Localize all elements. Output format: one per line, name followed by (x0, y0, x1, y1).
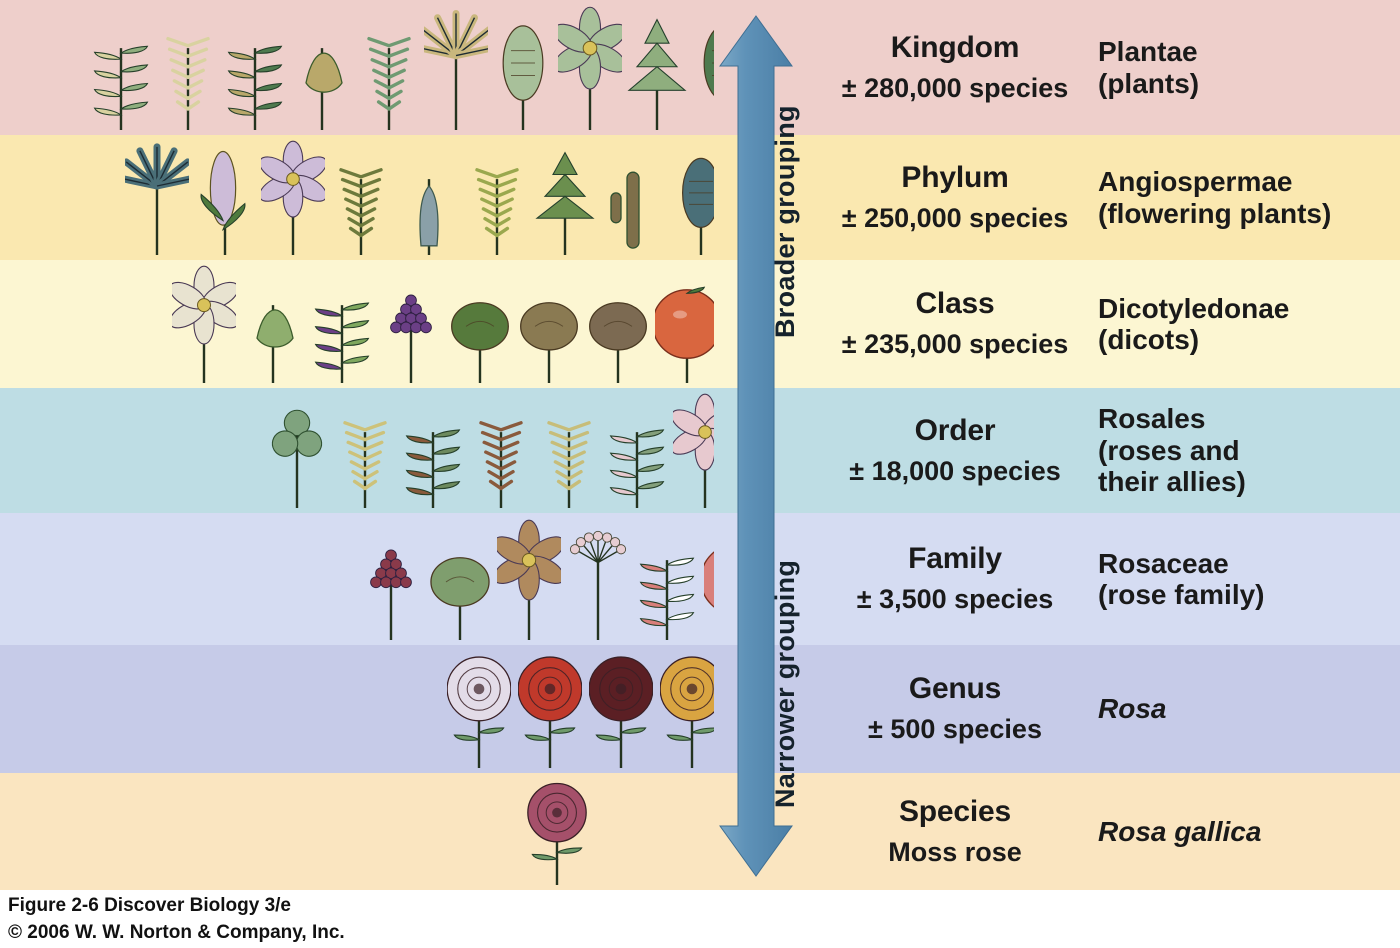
plant-illustration-umbel (566, 519, 630, 645)
taxon-common-name: their allies) (1098, 466, 1398, 497)
plant-illustration-leafy (310, 265, 374, 388)
taxonomy-figure: Kingdom ± 280,000 speciesPlantae(plants)… (0, 0, 1400, 890)
plant-illustration-blossom (497, 519, 561, 645)
rank-column-species: Species Moss rose (830, 773, 1080, 890)
rank-name: Class (915, 287, 994, 320)
plant-illustration-pitcher (397, 140, 461, 260)
rank-name: Family (908, 542, 1002, 575)
rank-name: Phylum (901, 161, 1008, 194)
rank-column-kingdom: Kingdom ± 280,000 species (830, 0, 1080, 135)
illustration-strip-class (95, 260, 714, 388)
taxon-common-name: (rose family) (1098, 579, 1398, 610)
plant-illustration-magnolia (172, 265, 236, 388)
taxon-common-name: (flowering plants) (1098, 198, 1398, 229)
plant-illustration-apple (704, 519, 714, 645)
plant-illustration-clover (265, 393, 329, 513)
plant-illustration-acorn (586, 265, 650, 388)
figure-caption: Figure 2-6 Discover Biology 3/e © 2006 W… (8, 893, 708, 947)
taxon-name: Rosaceae (1098, 548, 1398, 579)
rank-name: Order (915, 414, 996, 447)
rank-column-order: Order ± 18,000 species (830, 388, 1080, 513)
plant-illustration-leafy (401, 393, 465, 513)
plant-illustration-cactus (601, 140, 665, 260)
plant-illustration-pod (290, 6, 354, 135)
rank-column-class: Class ± 235,000 species (830, 260, 1080, 388)
rank-name: Genus (909, 672, 1001, 705)
plant-illustration-fern (329, 140, 393, 260)
plant-illustration-cone (669, 140, 714, 260)
plant-illustration-corn (193, 140, 257, 260)
plant-illustration-leafy (223, 6, 287, 135)
rank-column-genus: Genus ± 500 species (830, 645, 1080, 773)
plant-illustration-fern (357, 6, 421, 135)
rank-species-count: ± 235,000 species (842, 329, 1069, 360)
taxon-name: Dicotyledonae (1098, 293, 1398, 324)
plant-illustration-palm (125, 140, 189, 260)
plant-illustration-melon (448, 265, 512, 388)
plant-illustration-rose-yellow (660, 650, 714, 773)
plant-illustration-cone (491, 6, 555, 135)
caption-line-2: © 2006 W. W. Norton & Company, Inc. (8, 920, 708, 947)
caption-line-1: Figure 2-6 Discover Biology 3/e (8, 893, 708, 920)
plant-illustration-grass (465, 140, 529, 260)
illustration-strip-phylum (50, 135, 714, 260)
taxon-column-kingdom: Plantae(plants) (1098, 0, 1398, 135)
taxon-name: Angiospermae (1098, 166, 1398, 197)
plant-illustration-potato (517, 265, 581, 388)
taxon-name: Rosales (1098, 403, 1398, 434)
plant-illustration-pea (241, 265, 305, 388)
illustration-strip-kingdom (8, 0, 714, 135)
rank-species-count: ± 280,000 species (842, 73, 1069, 104)
taxon-column-genus: Rosa (1098, 645, 1398, 773)
taxon-column-phylum: Angiospermae(flowering plants) (1098, 135, 1398, 260)
rank-species-count: ± 18,000 species (849, 456, 1060, 487)
plant-illustration-palm (424, 6, 488, 135)
rank-name: Kingdom (891, 31, 1020, 64)
plant-illustration-almond (428, 519, 492, 645)
plant-illustration-pineapple (692, 6, 714, 135)
grouping-arrow: Broader grouping Narrower grouping (714, 8, 798, 884)
plant-illustration-rose-red (518, 650, 582, 773)
plant-illustration-blossom (673, 393, 714, 513)
plant-illustration-rose-white (447, 650, 511, 773)
plant-illustration-plume (333, 393, 397, 513)
taxon-name: Plantae (1098, 36, 1398, 67)
plant-illustration-conifer-sprig (625, 6, 689, 135)
plant-illustration-grass (156, 6, 220, 135)
taxon-name: Rosa gallica (1098, 816, 1398, 847)
plant-illustration-rose-moss (525, 777, 589, 890)
taxon-common-name: (roses and (1098, 435, 1398, 466)
rank-species-count: ± 3,500 species (857, 584, 1053, 615)
taxon-name: Rosa (1098, 693, 1398, 724)
rank-column-phylum: Phylum ± 250,000 species (830, 135, 1080, 260)
rank-species-count: ± 500 species (868, 714, 1042, 745)
taxon-column-species: Rosa gallica (1098, 773, 1398, 890)
plant-illustration-leafy (635, 519, 699, 645)
rank-name: Species (899, 795, 1011, 828)
taxon-column-class: Dicotyledonae(dicots) (1098, 260, 1398, 388)
taxon-common-name: (plants) (1098, 68, 1398, 99)
plant-illustration-tomato (655, 265, 714, 388)
plant-illustration-orchid (558, 6, 622, 135)
plant-illustration-poppy (89, 6, 153, 135)
plant-illustration-lily (261, 140, 325, 260)
plant-illustration-rose-darkred (589, 650, 653, 773)
plant-illustration-darkberry (359, 519, 423, 645)
narrower-grouping-label: Narrower grouping (770, 0, 801, 808)
plant-illustration-grapes (379, 265, 443, 388)
plant-illustration-tree (533, 140, 597, 260)
illustration-strip-order (190, 388, 714, 513)
plant-illustration-spike (537, 393, 601, 513)
taxon-column-order: Rosales(roses andtheir allies) (1098, 388, 1398, 513)
plant-illustration-plume (469, 393, 533, 513)
taxon-column-family: Rosaceae(rose family) (1098, 513, 1398, 645)
rank-species-count: ± 250,000 species (842, 203, 1069, 234)
plant-illustration-leafy (605, 393, 669, 513)
taxon-common-name: (dicots) (1098, 324, 1398, 355)
rank-species-count: Moss rose (888, 837, 1022, 868)
rank-column-family: Family ± 3,500 species (830, 513, 1080, 645)
